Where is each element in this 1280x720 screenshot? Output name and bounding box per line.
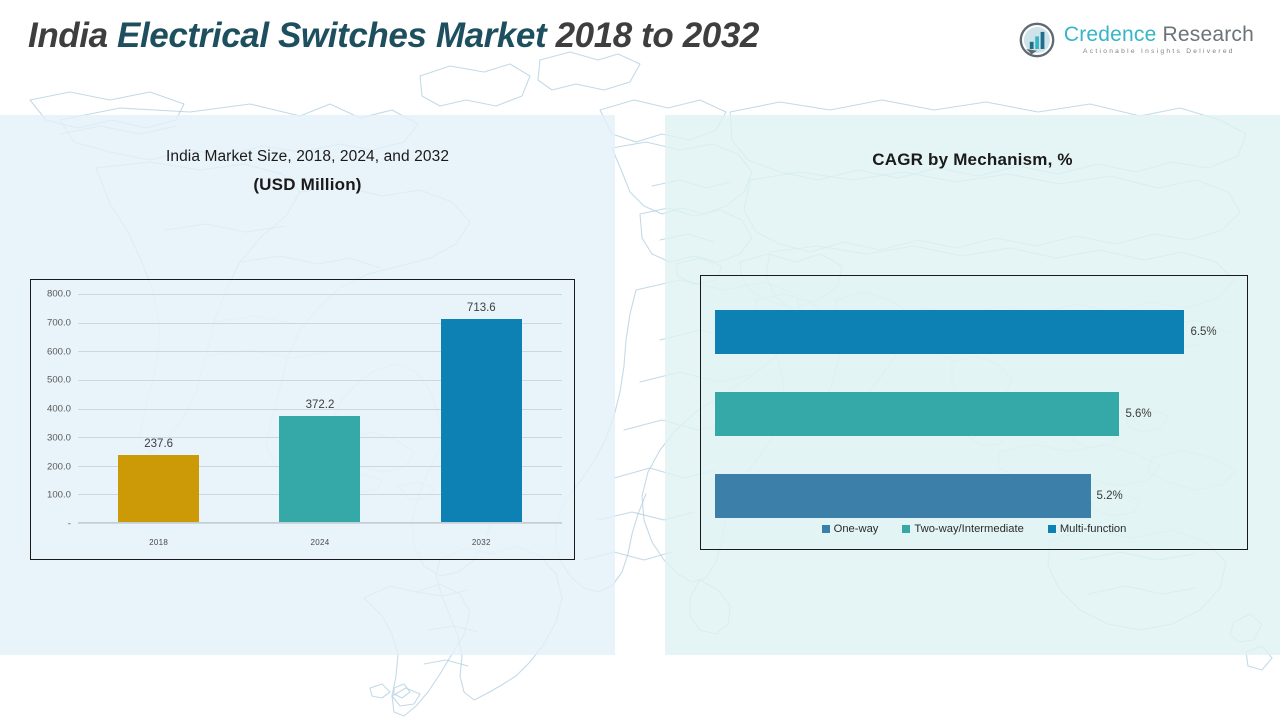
page-title-part2: Electrical Switches Market xyxy=(117,16,546,55)
market-size-bar[interactable] xyxy=(441,319,522,523)
cagr-bar[interactable] xyxy=(715,474,1091,518)
y-axis-tick-label: 400.0 xyxy=(47,404,71,415)
market-size-bar[interactable] xyxy=(118,455,199,523)
logo-name-credence: Credence xyxy=(1064,23,1157,46)
legend-item-label: Two-way/Intermediate xyxy=(914,523,1023,535)
cagr-chart: 6.5%5.6%5.2% One-wayTwo-way/Intermediate… xyxy=(700,275,1248,550)
left-chart-heading-line2: (USD Million) xyxy=(0,175,615,195)
x-axis-category-label: 2032 xyxy=(472,538,491,547)
cagr-bar-value-label: 6.5% xyxy=(1190,326,1216,338)
market-size-chart: 800.0700.0600.0500.0400.0300.0200.0100.0… xyxy=(30,279,575,560)
left-chart-heading: India Market Size, 2018, 2024, and 2032 … xyxy=(0,148,615,195)
cagr-bar-row: 6.5% xyxy=(715,310,1235,354)
legend-item[interactable]: Multi-function xyxy=(1048,523,1127,535)
gridline: - xyxy=(78,523,562,524)
market-size-bar[interactable] xyxy=(279,416,360,523)
legend-swatch-icon xyxy=(822,525,830,533)
y-axis-tick-label: 200.0 xyxy=(47,461,71,472)
header: India Electrical Switches Market 2018 to… xyxy=(0,0,1280,86)
cagr-bar-value-label: 5.6% xyxy=(1125,408,1151,420)
bar-chart-circle-icon xyxy=(1019,22,1055,58)
cagr-bar-row: 5.6% xyxy=(715,392,1235,436)
market-size-bar-group: 372.22024 xyxy=(239,294,400,523)
cagr-bar-value-label: 5.2% xyxy=(1097,490,1123,502)
cagr-bar[interactable] xyxy=(715,310,1184,354)
legend-swatch-icon xyxy=(902,525,910,533)
y-axis-tick-label: 600.0 xyxy=(47,346,71,357)
x-axis-category-label: 2018 xyxy=(149,538,168,547)
cagr-bar[interactable] xyxy=(715,392,1119,436)
page-title-part3: 2018 to 2032 xyxy=(546,16,759,55)
x-axis-line xyxy=(78,522,562,523)
y-axis-tick-label: - xyxy=(68,519,71,530)
cagr-legend: One-wayTwo-way/IntermediateMulti-functio… xyxy=(701,523,1247,535)
market-size-bar-group: 713.62032 xyxy=(401,294,562,523)
y-axis-tick-label: 500.0 xyxy=(47,375,71,386)
y-axis-tick-label: 100.0 xyxy=(47,490,71,501)
bar-value-label: 237.6 xyxy=(144,438,173,450)
logo-name-research: Research xyxy=(1156,23,1254,46)
market-size-bar-group: 237.62018 xyxy=(78,294,239,523)
x-axis-category-label: 2024 xyxy=(310,538,329,547)
page-title-part1: India xyxy=(28,16,117,55)
legend-swatch-icon xyxy=(1048,525,1056,533)
right-chart-heading: CAGR by Mechanism, % xyxy=(665,150,1280,170)
brand-logo[interactable]: Credence Research Actionable Insights De… xyxy=(1019,22,1254,58)
page-title: India Electrical Switches Market 2018 to… xyxy=(28,16,759,56)
market-size-bars: 237.62018372.22024713.62032 xyxy=(78,294,562,523)
market-size-plot-area: 800.0700.0600.0500.0400.0300.0200.0100.0… xyxy=(78,294,562,523)
logo-name: Credence Research xyxy=(1064,24,1254,45)
bar-value-label: 713.6 xyxy=(467,302,496,314)
bar-value-label: 372.2 xyxy=(306,399,335,411)
y-axis-tick-label: 800.0 xyxy=(47,289,71,300)
legend-item-label: Multi-function xyxy=(1060,523,1127,535)
legend-item[interactable]: Two-way/Intermediate xyxy=(902,523,1023,535)
y-axis-tick-label: 300.0 xyxy=(47,432,71,443)
logo-tagline: Actionable Insights Delivered xyxy=(1064,49,1254,56)
cagr-plot-area: 6.5%5.6%5.2% xyxy=(715,298,1235,503)
legend-item[interactable]: One-way xyxy=(822,523,879,535)
y-axis-tick-label: 700.0 xyxy=(47,317,71,328)
cagr-bar-row: 5.2% xyxy=(715,474,1235,518)
legend-item-label: One-way xyxy=(834,523,879,535)
left-chart-heading-line1: India Market Size, 2018, 2024, and 2032 xyxy=(0,148,615,166)
